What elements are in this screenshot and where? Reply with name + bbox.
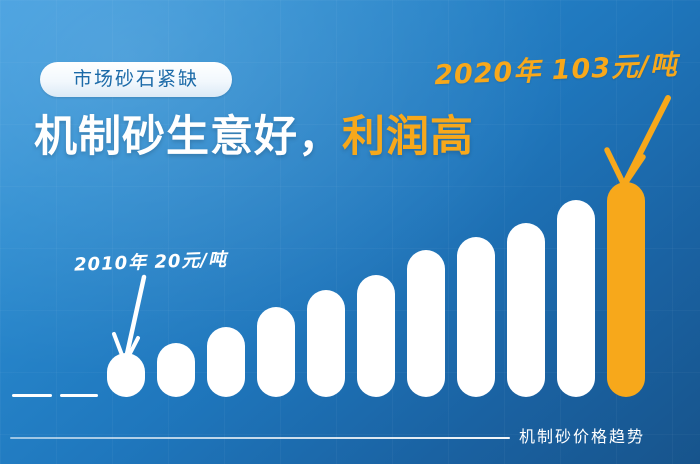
callout-2020-price: 2020年 103元/吨 (433, 43, 678, 93)
footer-divider-line (10, 437, 510, 439)
arrow-to-2010-icon (114, 277, 144, 363)
bar-2011 (157, 343, 195, 397)
headline-accent-text: 利润高 (342, 113, 474, 161)
bar-2010 (107, 353, 145, 397)
bar-2020 (607, 182, 645, 397)
poster-canvas: 市场砂石紧缺 机制砂生意好，利润高 2020年 103元/吨 2010年 20元… (0, 0, 700, 464)
bar-2015 (357, 275, 395, 397)
bar-2018 (507, 223, 545, 397)
market-shortage-tag-label: 市场砂石紧缺 (73, 70, 199, 89)
bar-2013 (257, 307, 295, 397)
bar-2014 (307, 290, 345, 397)
baseline-dash (60, 394, 98, 397)
bar-2017 (457, 237, 495, 397)
baseline-dash (12, 394, 52, 397)
callout-2010-price: 2010年 20元/吨 (74, 245, 228, 276)
bar-2019 (557, 200, 595, 397)
bar-2016 (407, 250, 445, 397)
market-shortage-tag: 市场砂石紧缺 (40, 62, 232, 97)
chart-caption: 机制砂价格趋势 (519, 423, 645, 447)
page-title: 机制砂生意好，利润高 (34, 112, 474, 163)
arrow-to-2020-icon (607, 98, 668, 185)
bar-2012 (207, 327, 245, 397)
headline-primary-text: 机制砂生意好， (34, 113, 342, 161)
